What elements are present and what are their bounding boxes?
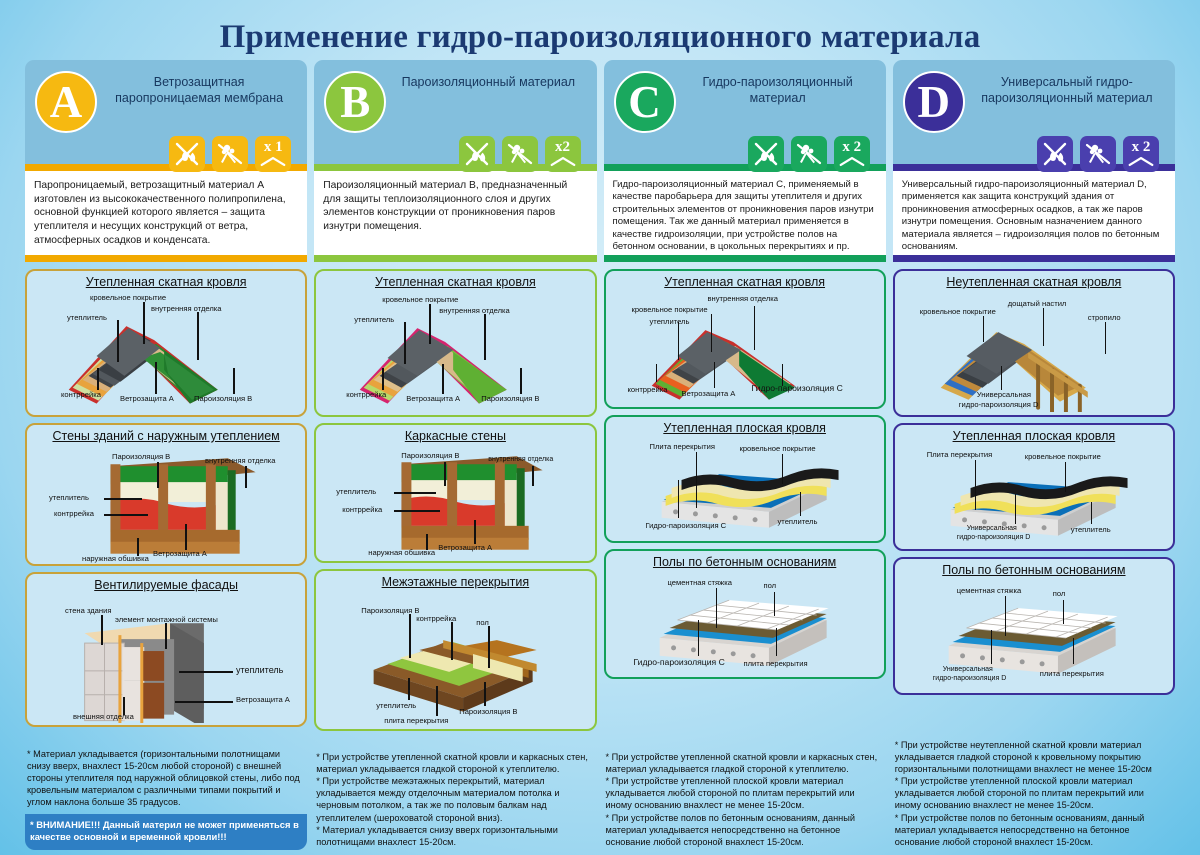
label: внешняя отделка [73, 713, 134, 721]
label: Пароизоляция В [481, 395, 539, 403]
panel-frame-walls-b: Каркасные стены [314, 423, 596, 563]
label: кровельное покрытие [382, 296, 458, 304]
label: Пароизоляция В [459, 708, 517, 716]
label: утеплитель [778, 518, 818, 526]
layers-count-label: x 1 [255, 139, 291, 156]
label: Ветрозащита А [153, 550, 207, 558]
chevron-icon [255, 156, 291, 167]
label: цементная стяжка [957, 587, 1021, 595]
material-column-c: C Гидро-пароизоляционный материал x 2 [604, 60, 886, 850]
label: кровельное покрытие [90, 294, 166, 302]
label: Пароизоляция В [112, 453, 170, 461]
label: внутренняя отделка [708, 295, 779, 303]
label: Пароизоляция В [401, 452, 459, 460]
label: внутренняя отделка [205, 457, 276, 465]
label: Гидро-пароизоляция С [634, 658, 725, 667]
material-name-b: Пароизоляционный материал [386, 69, 586, 91]
label: Плита перекрытия [927, 451, 992, 459]
label: утеплитель [67, 314, 107, 322]
label: пол [1053, 590, 1066, 598]
label: утеплитель [49, 494, 89, 502]
panels-c: Утепленная скатная кровля [604, 269, 886, 747]
label: плита перекрытия [384, 717, 448, 725]
panel-walls-external-a: Стены зданий с наружным утеплением [25, 423, 307, 566]
layers-count-icon: x2 [545, 136, 581, 172]
material-description-b: Пароизоляционный материал В, предназначе… [314, 171, 596, 255]
label: пол [476, 619, 489, 627]
panel-flat-roof-c: Утепленная плоская кровля [604, 415, 886, 543]
no-mold-icon [791, 136, 827, 172]
label: Пароизоляция В [194, 395, 252, 403]
material-description-a: Паропроницаемый, ветрозащитный материал … [25, 171, 307, 255]
no-mold-icon [212, 136, 248, 172]
label: Ветрозащита А [438, 544, 492, 552]
layers-count-icon: x 1 [255, 136, 291, 172]
label: элемент монтажной системы [115, 616, 218, 624]
label: стропило [1088, 314, 1121, 322]
accent-bar-d-bottom [893, 255, 1175, 262]
label: Ветрозащита А [406, 395, 460, 403]
notes-d: * При устройстве неутепленной скатной кр… [893, 735, 1175, 850]
chevron-icon [545, 156, 581, 167]
layers-count-label: x 2 [1123, 139, 1159, 156]
icon-row-b: x2 [324, 136, 586, 172]
label: утеплитель [376, 702, 416, 710]
icon-row-a: x 1 [35, 136, 297, 172]
material-badge-b: B [324, 71, 386, 133]
label: утеплитель [336, 488, 376, 496]
label: кровельное покрытие [632, 306, 708, 314]
label: контррейка [346, 391, 386, 399]
label: Гидро-пароизоляция С [646, 522, 727, 530]
label: Универсальная [943, 666, 993, 673]
label: Ветрозащита А [682, 390, 736, 398]
material-badge-c: C [614, 71, 676, 133]
label: Универсальная [977, 391, 1031, 399]
material-description-c: Гидро-пароизоляционный материал С, приме… [604, 171, 886, 255]
chevron-icon [1123, 156, 1159, 167]
label: дощатый настил [1008, 300, 1067, 308]
material-badge-d: D [903, 71, 965, 133]
material-name-a: Ветрозащитная паропроницаемая мембрана [97, 69, 297, 106]
material-column-b: B Пароизоляционный материал x2 [314, 60, 596, 850]
label: цементная стяжка [668, 579, 732, 587]
label: наружная обшивка [82, 555, 149, 563]
label: утеплитель [1071, 526, 1111, 534]
layers-count-label: x 2 [834, 139, 870, 156]
label: пол [764, 582, 777, 590]
label: кровельное покрытие [920, 308, 996, 316]
panel-interfloor-b: Межэтажные перекрытия [314, 569, 596, 731]
layers-count-icon: x 2 [834, 136, 870, 172]
accent-bar-a-bottom [25, 255, 307, 262]
label: гидро-пароизоляция D [933, 675, 1007, 682]
panel-concrete-floor-c: Полы по бетонным основаниям [604, 549, 886, 679]
accent-bar-b-bottom [314, 255, 596, 262]
material-header-a: A Ветрозащитная паропроницаемая мембрана… [25, 60, 307, 164]
label: утеплитель [354, 316, 394, 324]
label: внутренняя отделка [151, 305, 222, 313]
panels-d: Неутепленная скатная кровля [893, 269, 1175, 735]
label: контррейка [54, 510, 94, 518]
label: Ветрозащита А [120, 395, 174, 403]
panel-roof-uninsulated-d: Неутепленная скатная кровля [893, 269, 1175, 417]
label: гидро-пароизоляция D [957, 534, 1031, 541]
label: Гидро-пароизоляция С [752, 384, 843, 393]
label: гидро-пароизоляция D [959, 401, 1039, 409]
label: Плита перекрытия [650, 443, 715, 451]
label: утеплитель [650, 318, 690, 326]
icon-row-c: x 2 [614, 136, 876, 172]
panel-concrete-floor-d: Полы по бетонным основаниям [893, 557, 1175, 695]
notes-b: * При устройстве утепленной скатной кров… [314, 747, 596, 850]
material-header-b: B Пароизоляционный материал x2 [314, 60, 596, 164]
material-description-d: Универсальный гидро-пароизоляционный мат… [893, 171, 1175, 255]
notes-a: * Материал укладывается (горизонтальными… [25, 744, 307, 811]
label: кровельное покрытие [1025, 453, 1101, 461]
panel-ventilated-facade-a: Вентилируемые фасады [25, 572, 307, 727]
no-mold-icon [502, 136, 538, 172]
layers-count-icon: x 2 [1123, 136, 1159, 172]
panel-roof-insulated-a: Утепленная скатная кровля [25, 269, 307, 417]
panel-roof-insulated-b: Утепленная скатная кровля [314, 269, 596, 417]
label: Пароизоляция В [361, 607, 419, 615]
label: контррейка [61, 391, 101, 399]
label: стена здания [65, 607, 111, 615]
label: внутренняя отделка [439, 307, 510, 315]
no-flame-water-icon [459, 136, 495, 172]
label: контррейка [342, 506, 382, 514]
material-column-d: D Универсальный гидро- пароизоляционный … [893, 60, 1175, 850]
label: внутренняя отделка [488, 456, 553, 463]
accent-bar-c-bottom [604, 255, 886, 262]
label: плита перекрытия [744, 660, 808, 668]
warning-a: * ВНИМАНИЕ!!! Данный материл не может пр… [25, 814, 307, 850]
material-column-a: A Ветрозащитная паропроницаемая мембрана… [25, 60, 307, 850]
label: плита перекрытия [1040, 670, 1104, 678]
page-title: Применение гидро-пароизоляционного матер… [0, 0, 1200, 60]
panels-a: Утепленная скатная кровля [25, 269, 307, 744]
material-name-c: Гидро-пароизоляционный материал [676, 69, 876, 106]
no-flame-water-icon [169, 136, 205, 172]
icon-row-d: x 2 [903, 136, 1165, 172]
no-mold-icon [1080, 136, 1116, 172]
label: Универсальная [967, 525, 1017, 532]
material-header-d: D Универсальный гидро- пароизоляционный … [893, 60, 1175, 164]
panel-roof-insulated-c: Утепленная скатная кровля [604, 269, 886, 409]
panels-b: Утепленная скатная кровля [314, 269, 596, 747]
no-flame-water-icon [1037, 136, 1073, 172]
panel-flat-roof-d: Утепленная плоская кровля [893, 423, 1175, 551]
label: контррейка [416, 615, 456, 623]
label: контррейка [628, 386, 668, 394]
no-flame-water-icon [748, 136, 784, 172]
material-badge-a: A [35, 71, 97, 133]
material-name-d: Универсальный гидро- пароизоляционный ма… [965, 69, 1165, 106]
material-header-c: C Гидро-пароизоляционный материал x 2 [604, 60, 886, 164]
label: Ветрозащита А [236, 696, 290, 704]
layers-count-label: x2 [545, 139, 581, 156]
label: утеплитель [236, 666, 283, 675]
notes-c: * При устройстве утепленной скатной кров… [604, 747, 886, 850]
material-columns: A Ветрозащитная паропроницаемая мембрана… [0, 60, 1200, 850]
chevron-icon [834, 156, 870, 167]
label: кровельное покрытие [740, 445, 816, 453]
label: наружная обшивка [368, 549, 435, 557]
